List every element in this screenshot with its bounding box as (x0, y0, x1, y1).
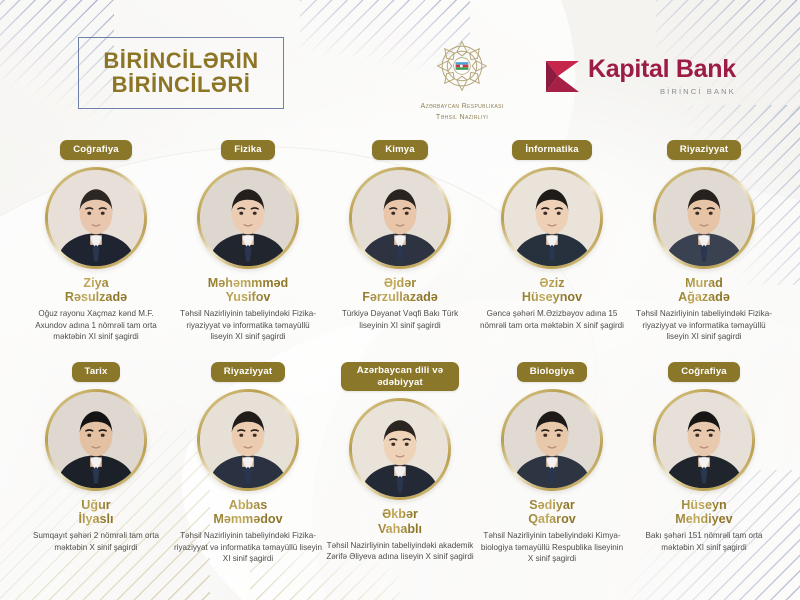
azerbaijan-ministry-emblem-icon (430, 34, 494, 98)
subject-badge[interactable]: Tarix (72, 362, 121, 382)
winner-photo (656, 170, 752, 266)
winner-photo-frame (501, 389, 603, 491)
winner-photo-frame (501, 167, 603, 269)
subject-badge[interactable]: Coğrafiya (668, 362, 740, 382)
subject-badge[interactable]: Biologiya (517, 362, 588, 382)
bank-name: Kapital Bank (588, 57, 736, 82)
winner-photo-frame (653, 167, 755, 269)
winner-photo-frame (349, 398, 451, 500)
winner-name: Əziz Hüseynov (522, 276, 582, 304)
winner-card: Coğrafiya Hüseyn Mehdiyev Bakı şəhəri 15… (628, 362, 780, 565)
bank-tagline: BİRİNCİ BANK (588, 87, 736, 96)
page-title-line-1: BİRİNCİLƏRİN (103, 50, 258, 73)
winner-photo (504, 170, 600, 266)
student-portrait-icon (352, 401, 448, 497)
page-title-line-2: BİRİNCİLƏRİ (112, 74, 251, 97)
poster-title-box: BİRİNCİLƏRİN BİRİNCİLƏRİ (78, 37, 284, 109)
winner-name: Ziya Rəsulzadə (65, 276, 127, 304)
winner-first-name: Məhəmmməd (208, 276, 288, 290)
winner-card: Kimya Əjdər Fərzullazadə Türkiyə Dəyanət… (324, 140, 476, 343)
winner-photo (504, 392, 600, 488)
poster-header: BİRİNCİLƏRİN BİRİNCİLƏRİ (0, 0, 800, 136)
winner-card: Fizika Məhəmmməd Yusifov Təhsil Nazirliy… (172, 140, 324, 343)
ministry-logo: Azərbaycan Respublikası Təhsil Nazirliyi (382, 34, 542, 122)
student-portrait-icon (656, 392, 752, 488)
student-portrait-icon (48, 392, 144, 488)
winner-photo-frame (45, 167, 147, 269)
student-portrait-icon (200, 170, 296, 266)
winner-photo-frame (197, 389, 299, 491)
student-portrait-icon (504, 170, 600, 266)
subject-badge[interactable]: Kimya (372, 140, 428, 160)
winner-school-description: Təhsil Nazirliyinin tabeliyindəki Fizika… (631, 308, 777, 342)
subject-badge[interactable]: Azərbaycan dili və ədəbiyyat (341, 362, 459, 391)
winner-name: Abbas Məmmədov (213, 498, 282, 526)
winner-photo (48, 392, 144, 488)
winner-photo (200, 392, 296, 488)
winner-first-name: Ziya (83, 276, 108, 290)
student-portrait-icon (352, 170, 448, 266)
subject-badge[interactable]: Riyaziyyat (667, 140, 741, 160)
student-portrait-icon (48, 170, 144, 266)
winner-name: Sədiyar Qafarov (528, 498, 576, 526)
winner-photo-frame (349, 167, 451, 269)
winner-photo-frame (45, 389, 147, 491)
winner-first-name: Əkbər (382, 507, 418, 521)
winner-card: Coğrafiya Ziya Rəsulzadə Oğuz rayonu Xaç… (20, 140, 172, 343)
winner-school-description: Təhsil Nazirliyinin tabeliyindəki akadem… (326, 540, 474, 563)
winner-last-name: Mehdiyev (675, 512, 732, 526)
winner-photo-frame (197, 167, 299, 269)
winner-card: Biologiya Sədiyar Qafarov Təhsil Nazirli… (476, 362, 628, 565)
subject-badge[interactable]: Coğrafiya (60, 140, 132, 160)
bank-logo: Kapital Bank BİRİNCİ BANK (546, 57, 736, 96)
winner-card: Tarix Uğur İlyaslı Sumqayıt şəhəri 2 nöm… (20, 362, 172, 565)
winner-name: Uğur İlyaslı (78, 498, 113, 526)
winner-last-name: Fərzullazadə (362, 290, 438, 304)
winner-photo (48, 170, 144, 266)
winner-last-name: Qafarov (528, 512, 576, 526)
winner-name: Əjdər Fərzullazadə (362, 276, 438, 304)
winner-last-name: Vahablı (378, 522, 422, 536)
winner-last-name: Yusifov (226, 290, 271, 304)
winner-photo-frame (653, 389, 755, 491)
winner-photo (200, 170, 296, 266)
winner-school-description: Təhsil Nazirliyinin tabeliyindəki Kimya-… (478, 530, 626, 564)
winner-name: Əkbər Vahablı (378, 507, 422, 535)
poster-canvas: BİRİNCİLƏRİN BİRİNCİLƏRİ (0, 0, 800, 600)
winner-last-name: İlyaslı (78, 512, 113, 526)
winner-school-description: Təhsil Nazirliyinin tabeliyindəki Fizika… (175, 308, 321, 342)
winner-last-name: Məmmədov (213, 512, 282, 526)
winner-school-description: Sumqayıt şəhəri 2 nömrəli tam orta məktə… (22, 530, 170, 553)
winner-school-description: Gəncə şəhəri M.Əzizbəyov adına 15 nömrəl… (479, 308, 625, 331)
winner-school-description: Oğuz rayonu Xaçmaz kənd M.F. Axundov adı… (23, 308, 169, 342)
winner-first-name: Sədiyar (529, 498, 575, 512)
winner-card: İnformatika Əziz Hüseynov Gəncə şəhəri M… (476, 140, 628, 343)
winner-card: Riyaziyyat Abbas Məmmədov Təhsil Nazirli… (172, 362, 324, 565)
winner-first-name: Əziz (539, 276, 564, 290)
winner-first-name: Hüseyn (681, 498, 727, 512)
ministry-name-line-1: Azərbaycan Respublikası (382, 101, 542, 112)
bank-wordmark: Kapital Bank BİRİNCİ BANK (588, 57, 736, 96)
winner-school-description: Bakı şəhəri 151 nömrəli tam orta məktəbi… (630, 530, 778, 553)
winner-last-name: Ağazadə (678, 290, 730, 304)
student-portrait-icon (504, 392, 600, 488)
winner-photo (352, 170, 448, 266)
winner-card: Riyaziyyat Murad Ağazadə Təhsil Nazirliy… (628, 140, 780, 343)
kapital-bank-mark-icon (546, 61, 579, 92)
winner-last-name: Hüseynov (522, 290, 582, 304)
winner-first-name: Murad (685, 276, 723, 290)
winner-photo (656, 392, 752, 488)
winner-last-name: Rəsulzadə (65, 290, 127, 304)
winner-school-description: Türkiyə Dəyanət Vəqfi Bakı Türk liseyini… (327, 308, 473, 331)
winner-name: Murad Ağazadə (678, 276, 730, 304)
winner-first-name: Abbas (229, 498, 268, 512)
winner-name: Hüseyn Mehdiyev (675, 498, 732, 526)
winner-photo (352, 401, 448, 497)
winner-first-name: Uğur (81, 498, 110, 512)
winner-name: Məhəmmməd Yusifov (208, 276, 288, 304)
winner-school-description: Təhsil Nazirliyinin tabeliyindəki Fizika… (174, 530, 322, 564)
student-portrait-icon (200, 392, 296, 488)
subject-badge[interactable]: Fizika (221, 140, 275, 160)
student-portrait-icon (656, 170, 752, 266)
winners-row-bottom: Tarix Uğur İlyaslı Sumqayıt şəhəri 2 nöm… (0, 362, 800, 565)
subject-badge[interactable]: İnformatika (512, 140, 591, 160)
winner-card: Azərbaycan dili və ədəbiyyat Əkbər Vahab… (324, 362, 476, 565)
winner-first-name: Əjdər (384, 276, 416, 290)
winners-row-top: Coğrafiya Ziya Rəsulzadə Oğuz rayonu Xaç… (0, 140, 800, 343)
ministry-name-line-2: Təhsil Nazirliyi (382, 112, 542, 123)
subject-badge[interactable]: Riyaziyyat (211, 362, 285, 382)
